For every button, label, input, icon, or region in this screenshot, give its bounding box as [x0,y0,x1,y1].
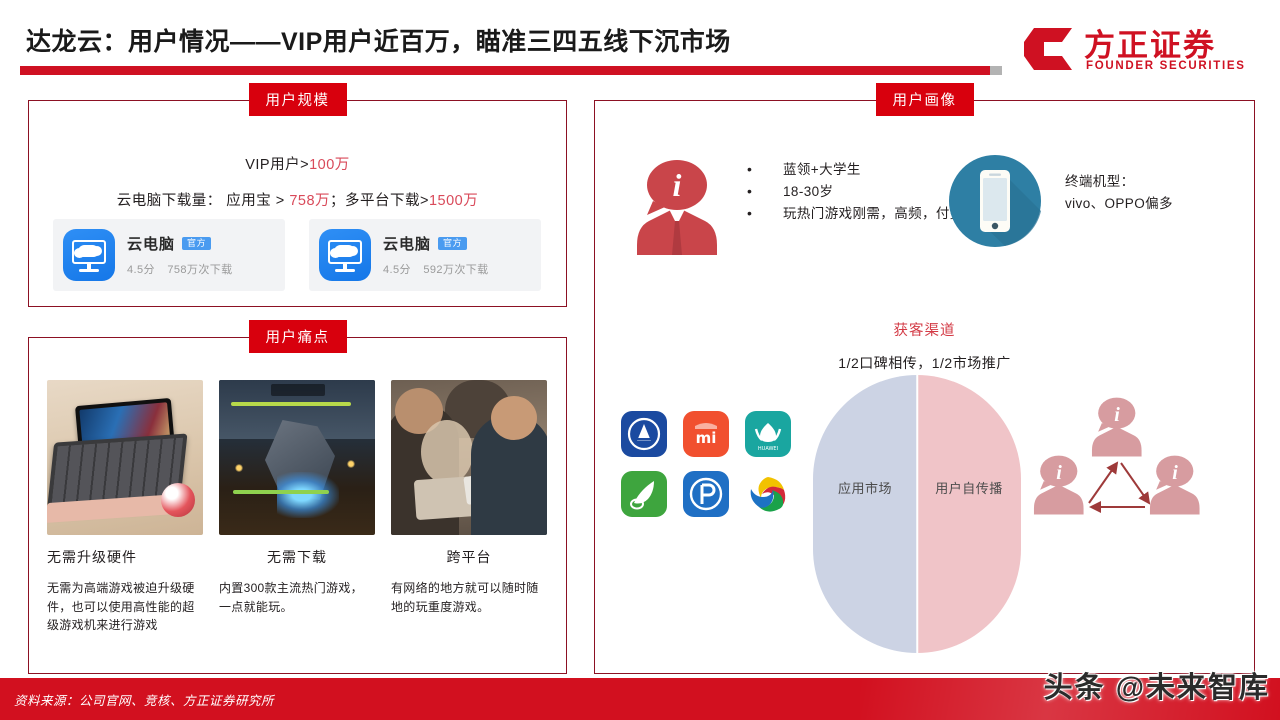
pain-point-item: 无需升级硬件 无需为高端游戏被迫升级硬件，也可以使用高性能的超级游戏机来进行游戏 [47,380,203,635]
people-playing-photo [391,380,547,535]
app-rating: 4.5分 [383,264,411,276]
page-title: 达龙云：用户情况——VIP用户近百万，瞄准三四五线下沉市场 [26,22,731,58]
pain-point-text: 无需为高端游戏被迫升级硬件，也可以使用高性能的超级游戏机来进行游戏 [47,579,203,635]
pie-slice-app-market: 应用市场 [813,375,917,653]
persona-row: i 蓝领+大学生 18-30岁 玩热门游戏刚需，高频，付费意愿高 终端机型： v… [595,145,1254,285]
official-badge: 官方 [438,237,467,250]
app-stats: 4.5分 592万次下载 [383,261,498,277]
vip-label: VIP用户> [245,157,309,173]
vip-user-line: VIP用户>100万 [29,153,566,174]
huawei-store-icon[interactable]: HUAWEI [745,411,791,457]
svg-text:i: i [1172,462,1178,484]
xiaomi-store-icon[interactable]: mi [683,411,729,457]
pie-divider [916,375,918,653]
app-card[interactable]: 云电脑 官方 4.5分 592万次下载 [309,219,541,291]
device-model-label: 终端机型： [1065,171,1173,193]
founder-securities-logo: 方正证券 FOUNDER SECURITIES [1012,18,1262,80]
download-value-yingyongbao: 758万 [289,193,330,209]
pain-point-title: 跨平台 [391,547,547,567]
official-badge: 官方 [182,237,211,250]
pain-points-panel: 用户痛点 无需升级硬件 无需为高端游戏被迫升级硬件，也可以使用高性能的超级游戏机… [28,337,567,674]
watermark: 头条 @未来智库 [1044,664,1270,706]
user-scale-panel: 用户规模 VIP用户>100万 云电脑下载量： 应用宝 > 758万；多平台下载… [28,100,567,307]
svg-text:i: i [1114,404,1120,426]
title-underline-cap [990,66,1002,75]
user-persona-panel: 用户画像 i 蓝领+大学生 18-30岁 玩热门游戏刚需，高频，付费意愿高 [594,100,1255,674]
slide-root: 达龙云：用户情况——VIP用户近百万，瞄准三四五线下沉市场 方正证券 FOUND… [0,0,1280,720]
app-downloads: 592万次下载 [423,264,488,276]
user-persona-badge: 用户画像 [876,83,974,116]
word-of-mouth-triangle-icon: iii [1025,397,1215,547]
pain-point-text: 内置300款主流热门游戏，一点就能玩。 [219,579,375,616]
founder-logo-mark [1022,26,1074,72]
pp-assistant-icon[interactable] [683,471,729,517]
app-card-list: 云电脑 官方 4.5分 758万次下载 云电脑 [53,219,541,291]
acquisition-pie-chart: 应用市场 用户自传播 [813,375,1021,653]
vip-value: 100万 [309,157,350,173]
laptop-phone-photo [47,380,203,535]
pain-points-badge: 用户痛点 [249,320,347,353]
logo-english-name: FOUNDER SECURITIES [1086,60,1246,72]
pie-slice-label: 应用市场 [813,479,917,499]
app-stats: 4.5分 758万次下载 [127,261,242,277]
app-store-icon[interactable] [621,411,667,457]
download-label: 云电脑下载量： 应用宝 > [117,193,285,209]
app-name: 云电脑 [383,233,431,254]
pie-label-text: 应用市场 [838,481,892,496]
device-model-text: 终端机型： vivo、OPPO偏多 [1065,171,1173,215]
pie-slice-user-spread: 用户自传播 [917,375,1021,653]
pain-point-title: 无需下载 [219,547,375,567]
app-name: 云电脑 [127,233,175,254]
svg-text:i: i [673,167,682,203]
game-screenshot-photo [219,380,375,535]
pain-point-item: 无需下载 内置300款主流热门游戏，一点就能玩。 [219,380,375,635]
pie-slice-label: 用户自传播 [917,479,1021,499]
oppo-store-icon[interactable] [621,471,667,517]
title-underline-bar [20,66,990,75]
360-store-icon[interactable] [745,471,791,517]
info-person-icon: i [629,159,725,259]
download-volume-line: 云电脑下载量： 应用宝 > 758万；多平台下载>1500万 [29,189,566,210]
svg-text:mi: mi [696,429,717,447]
source-note: 资料来源：公司官网、竞核、方正证券研究所 [14,690,274,709]
app-rating: 4.5分 [127,264,155,276]
svg-text:HUAWEI: HUAWEI [758,446,778,452]
smartphone-icon [947,153,1043,249]
channel-title: 获客渠道 [595,319,1254,340]
pain-point-list: 无需升级硬件 无需为高端游戏被迫升级硬件，也可以使用高性能的超级游戏机来进行游戏… [47,380,547,635]
svg-text:i: i [1056,462,1062,484]
pain-point-item: 跨平台 有网络的地方就可以随时随地的玩重度游戏。 [391,380,547,635]
pain-point-title: 无需升级硬件 [47,547,203,567]
cloud-pc-icon [63,229,115,281]
user-scale-badge: 用户规模 [249,83,347,116]
app-card[interactable]: 云电脑 官方 4.5分 758万次下载 [53,219,285,291]
pain-point-text: 有网络的地方就可以随时随地的玩重度游戏。 [391,579,547,616]
app-downloads: 758万次下载 [167,264,232,276]
pie-label-text: 用户自传播 [935,481,1003,496]
device-model-value: vivo、OPPO偏多 [1065,193,1173,215]
slide-header: 达龙云：用户情况——VIP用户近百万，瞄准三四五线下沉市场 方正证券 FOUND… [0,0,1280,92]
store-icon-grid: mi HUAWEI [621,411,791,517]
channel-subtitle: 1/2口碑相传，1/2市场推广 [595,353,1254,373]
cloud-pc-icon [319,229,371,281]
download-mid-label: ；多平台下载> [330,193,429,209]
download-value-multiplatform: 1500万 [429,193,478,209]
logo-chinese-name: 方正证券 [1084,20,1216,65]
